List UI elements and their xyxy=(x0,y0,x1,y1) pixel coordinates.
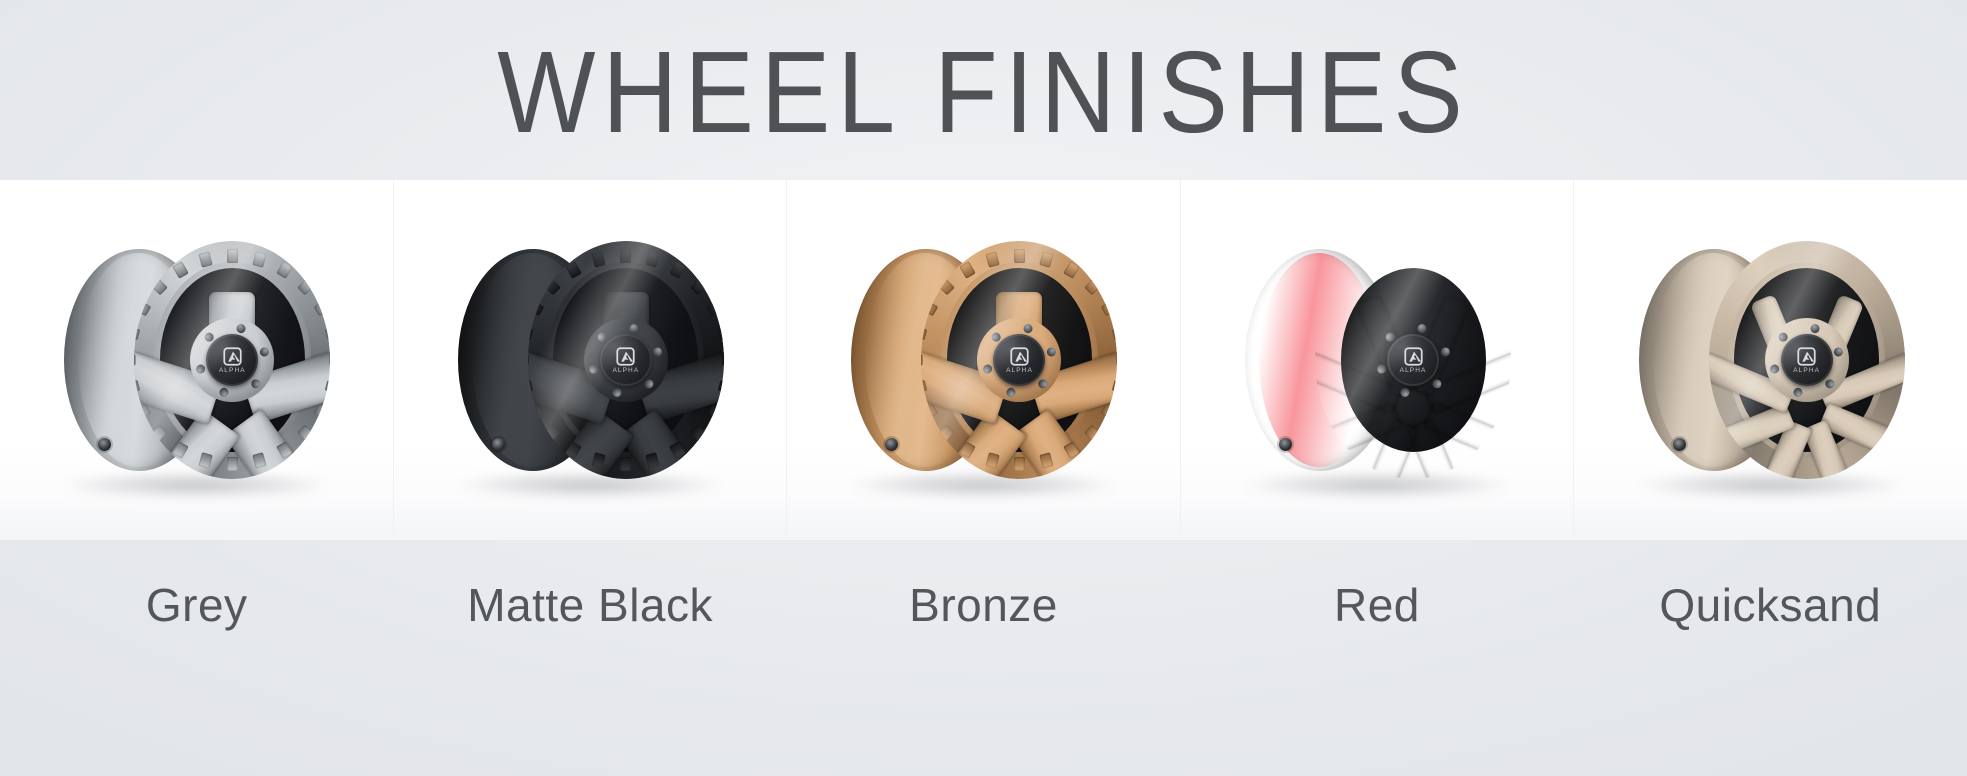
center-cap-wordmark: ALPHA xyxy=(1793,368,1820,375)
center-cap-wordmark: ALPHA xyxy=(1006,368,1033,375)
wheel-lug-nut xyxy=(195,363,206,374)
wheel-lug-nut xyxy=(652,346,663,357)
wheel-graphic-bronze: ALPHA xyxy=(849,241,1117,479)
center-cap-wordmark: ALPHA xyxy=(1400,368,1427,375)
wheel-face: ALPHA xyxy=(921,241,1117,479)
wheel-face: ALPHA xyxy=(134,241,330,479)
wheel-lug-nut xyxy=(1810,323,1821,334)
wheel-face: ALPHA xyxy=(1315,241,1511,479)
finish-label-row: GreyMatte BlackBronzeRedQuicksand xyxy=(0,540,1967,670)
valve-stem-icon xyxy=(492,438,505,451)
wheel-center-cap: ALPHA xyxy=(1781,334,1833,386)
wheel-lug-nut xyxy=(982,363,993,374)
wheel-lug-nut xyxy=(1824,377,1837,390)
finish-label-grey: Grey xyxy=(0,578,393,632)
wheel-center-cap: ALPHA xyxy=(1387,334,1439,386)
wheel-face: ALPHA xyxy=(1709,241,1905,479)
finish-label-matte-black: Matte Black xyxy=(393,578,786,632)
wheel-lug-nut xyxy=(218,386,229,397)
wheel-panel-matte-black[interactable]: ALPHA xyxy=(394,180,788,540)
valve-stem-icon xyxy=(98,438,111,451)
wheel-lug-nut xyxy=(259,346,270,357)
valve-stem-icon xyxy=(1279,438,1292,451)
wheel-lug-nut xyxy=(1833,346,1844,357)
wheel-graphic-grey: ALPHA xyxy=(62,241,330,479)
wheel-lug-nut xyxy=(249,377,262,390)
wheel-center-cap: ALPHA xyxy=(206,334,258,386)
wheel-graphic-red: ALPHA xyxy=(1243,241,1511,479)
wheel-photo-strip: ALPHAALPHAALPHAALPHAALPHA xyxy=(0,180,1967,540)
wheel-lug-nut xyxy=(1439,346,1450,357)
wheel-lug-nut xyxy=(1046,346,1057,357)
center-cap-wordmark: ALPHA xyxy=(612,368,639,375)
wheel-center-cap: ALPHA xyxy=(600,334,652,386)
alpha-logo-icon xyxy=(615,346,636,367)
wheel-lug-nut xyxy=(1793,386,1804,397)
alpha-logo-icon xyxy=(222,346,243,367)
wheel-face: ALPHA xyxy=(528,241,724,479)
wheel-lug-nut xyxy=(1005,386,1016,397)
center-cap-wordmark: ALPHA xyxy=(219,368,246,375)
wheel-lug-nut xyxy=(1023,323,1034,334)
valve-stem-icon xyxy=(885,438,898,451)
wheel-center-cap: ALPHA xyxy=(993,334,1045,386)
alpha-logo-icon xyxy=(1796,346,1817,367)
alpha-logo-icon xyxy=(1009,346,1030,367)
finish-label-red: Red xyxy=(1180,578,1573,632)
wheel-lug-nut xyxy=(612,386,623,397)
title-bar: WHEEL FINISHES xyxy=(0,0,1967,180)
finish-label-quicksand: Quicksand xyxy=(1574,578,1967,632)
wheel-graphic-matte-black: ALPHA xyxy=(456,241,724,479)
wheel-lug-nut xyxy=(589,363,600,374)
wheel-lug-nut xyxy=(235,323,246,334)
page-title: WHEEL FINISHES xyxy=(497,35,1470,151)
wheel-panel-bronze[interactable]: ALPHA xyxy=(787,180,1181,540)
wheel-lug-nut xyxy=(643,377,656,390)
wheel-lug-nut xyxy=(1376,363,1387,374)
wheel-graphic-quicksand: ALPHA xyxy=(1637,241,1905,479)
wheel-lug-nut xyxy=(1416,323,1427,334)
wheel-panel-quicksand[interactable]: ALPHA xyxy=(1574,180,1967,540)
wheel-lug-nut xyxy=(1399,386,1410,397)
wheel-lug-nut xyxy=(1036,377,1049,390)
wheel-lug-nut xyxy=(1769,363,1780,374)
wheel-panel-grey[interactable]: ALPHA xyxy=(0,180,394,540)
wheel-panel-red[interactable]: ALPHA xyxy=(1181,180,1575,540)
finish-label-bronze: Bronze xyxy=(787,578,1180,632)
alpha-logo-icon xyxy=(1403,346,1424,367)
wheel-lug-nut xyxy=(629,323,640,334)
valve-stem-icon xyxy=(1673,438,1686,451)
wheel-finishes-page: WHEEL FINISHES ALPHAALPHAALPHAALPHAALPHA… xyxy=(0,0,1967,776)
wheel-lug-nut xyxy=(1430,377,1443,390)
